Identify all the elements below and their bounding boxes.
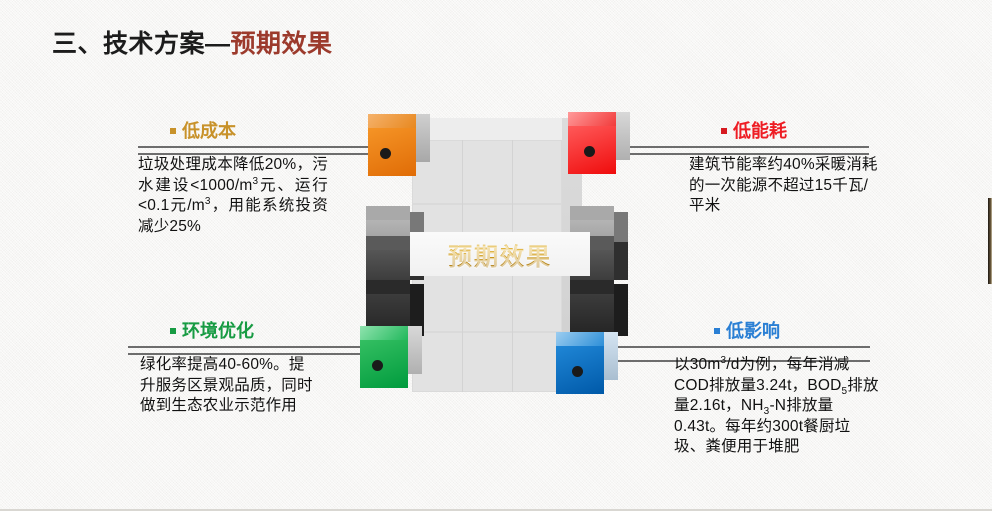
info-block-cost-header: 低成本 [138,122,338,140]
info-block-cost: 低成本 垃圾处理成本降低20%，污水建设<1000/m3元、运行<0.1元/m3… [138,122,338,237]
info-block-impact: 低影响 以30m3/d为例，每年消减COD排放量3.24t，BOD5排放量2.1… [594,322,870,458]
info-block-energy-title: 低能耗 [733,122,787,140]
connector-dot-impact [572,366,583,377]
center-label: 预期效果 [410,232,590,276]
info-block-cost-body: 垃圾处理成本降低20%，污水建设<1000/m3元、运行<0.1元/m3，用能系… [138,155,328,237]
page-title-main: 三、技术方案— [52,30,231,58]
corner-cube-green [360,326,422,388]
info-block-energy-header: 低能耗 [607,122,869,140]
square-bullet-icon [170,128,176,134]
info-block-cost-rule [138,146,376,148]
corner-cube-red [568,112,630,174]
page-title: 三、技术方案—预期效果 [52,24,333,60]
corner-cube-blue [556,332,618,394]
right-edge-marker [988,198,992,284]
connector-dot-cost [380,148,391,159]
square-bullet-icon [170,328,176,334]
info-block-impact-header: 低影响 [594,322,870,340]
info-block-environment-body: 绿化率提高40-60%。提升服务区景观品质，同时做到生态农业示范作用 [140,355,320,417]
info-block-energy: 低能耗 建筑节能率约40%采暖消耗的一次能源不超过15千瓦/平米 [607,122,869,217]
info-block-environment-rule [128,346,376,348]
page-title-accent: 预期效果 [231,30,333,58]
corner-cube-orange [368,114,430,176]
info-block-cost-title: 低成本 [182,122,236,140]
info-block-environment: 环境优化 绿化率提高40-60%。提升服务区景观品质，同时做到生态农业示范作用 [128,322,364,417]
square-bullet-icon [714,328,720,334]
info-block-impact-body: 以30m3/d为例，每年消减COD排放量3.24t，BOD5排放量2.16t，N… [674,355,880,458]
info-block-impact-title: 低影响 [726,322,780,340]
connector-dot-environment [372,360,383,371]
info-block-environment-header: 环境优化 [128,322,364,340]
info-block-impact-rule [594,346,870,348]
info-block-environment-title: 环境优化 [182,322,254,340]
info-block-energy-body: 建筑节能率约40%采暖消耗的一次能源不超过15千瓦/平米 [689,155,879,217]
cube-cluster-graphic: 预期效果 [358,104,648,394]
info-block-energy-rule [607,146,869,148]
slide-canvas: 三、技术方案—预期效果 [0,0,992,511]
square-bullet-icon [721,128,727,134]
connector-dot-energy [584,146,595,157]
center-label-text: 预期效果 [448,237,552,272]
